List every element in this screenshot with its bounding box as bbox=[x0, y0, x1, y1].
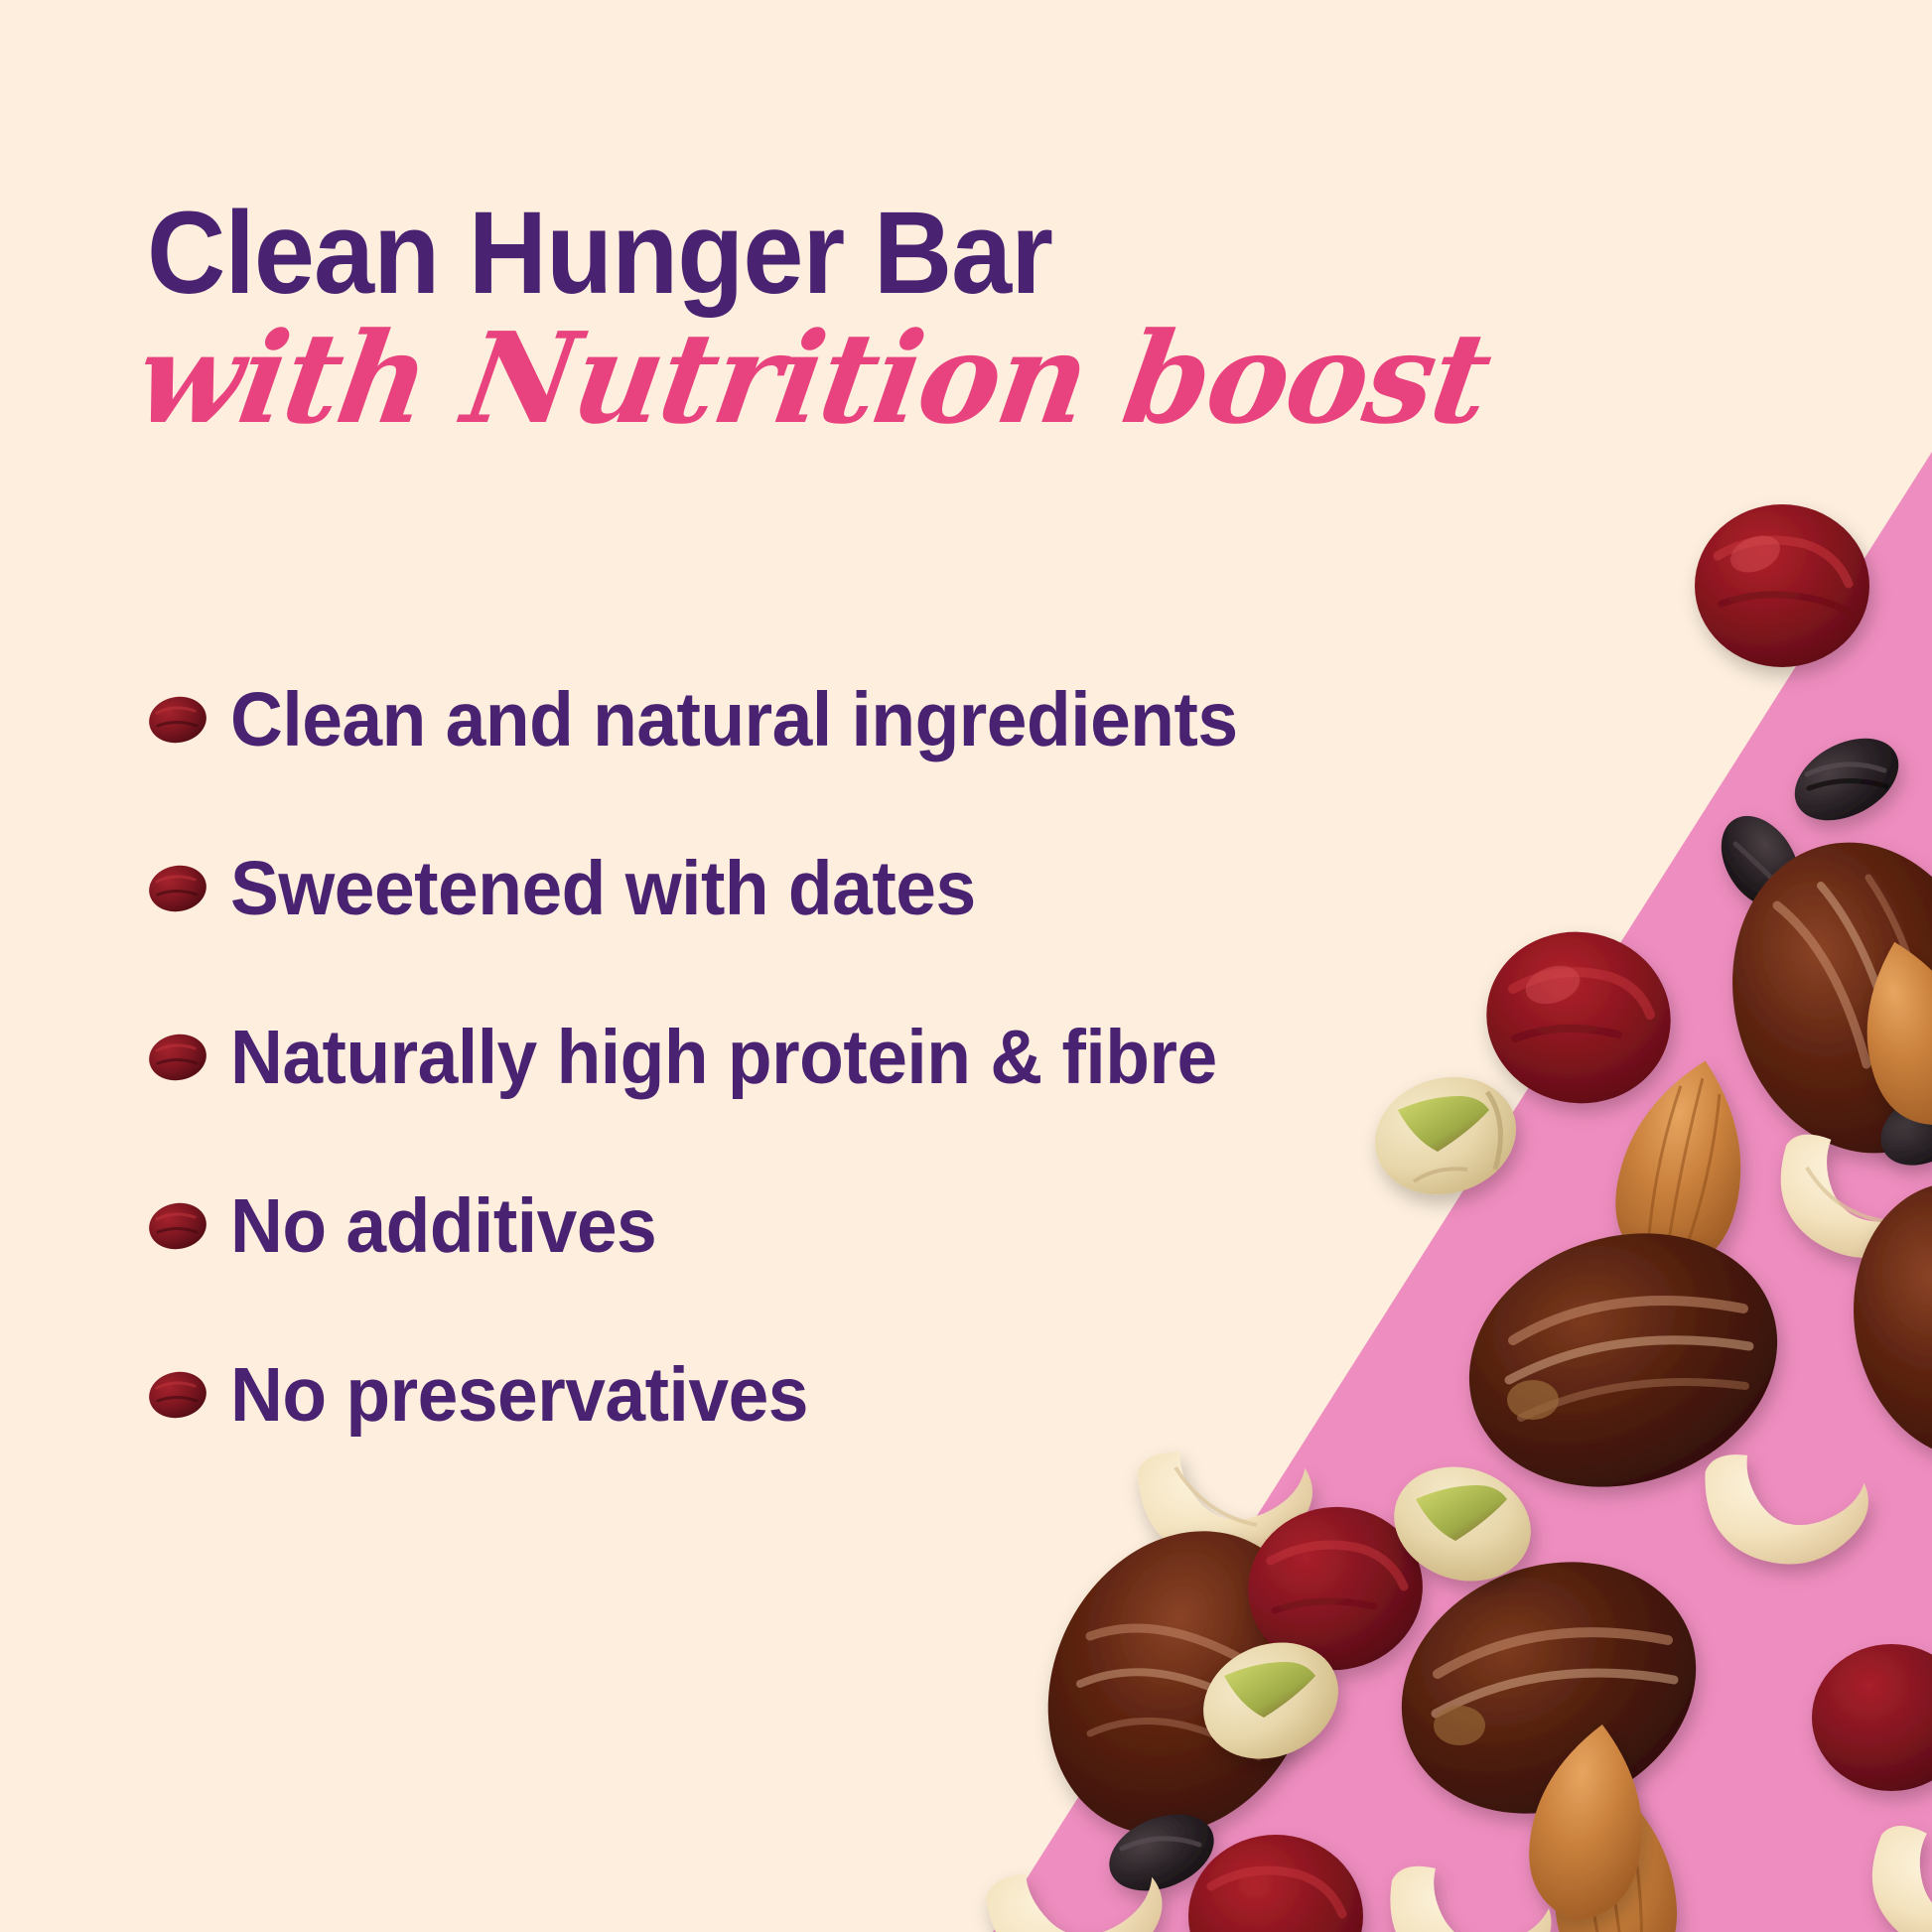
dried-cranberry-bullet-icon bbox=[147, 864, 208, 913]
benefit-label: No additives bbox=[230, 1188, 656, 1265]
benefit-label: Naturally high protein & fibre bbox=[230, 1020, 1217, 1096]
dried-cranberry-bullet-icon bbox=[147, 1370, 208, 1420]
list-item: Naturally high protein & fibre bbox=[147, 973, 1160, 1142]
dried-cranberry-bullet-icon bbox=[147, 695, 208, 745]
benefit-label: Clean and natural ingredients bbox=[230, 682, 1238, 759]
list-item: Sweetened with dates bbox=[147, 804, 1160, 973]
benefit-label: Sweetened with dates bbox=[230, 851, 976, 927]
list-item: No preservatives bbox=[147, 1311, 1160, 1479]
dried-cranberry-bullet-icon bbox=[147, 1201, 208, 1251]
subtitle-script: with Nutrition boost bbox=[129, 316, 1497, 441]
list-item: No additives bbox=[147, 1142, 1160, 1311]
benefit-label: No preservatives bbox=[230, 1357, 808, 1434]
list-item: Clean and natural ingredients bbox=[147, 635, 1160, 804]
poster-canvas: Clean Hunger Bar with Nutrition boost bbox=[0, 0, 1932, 1932]
benefits-list: Clean and natural ingredients Sweetened … bbox=[147, 635, 1160, 1479]
dried-cranberry-bullet-icon bbox=[147, 1033, 208, 1082]
page-title: Clean Hunger Bar bbox=[147, 195, 1052, 312]
